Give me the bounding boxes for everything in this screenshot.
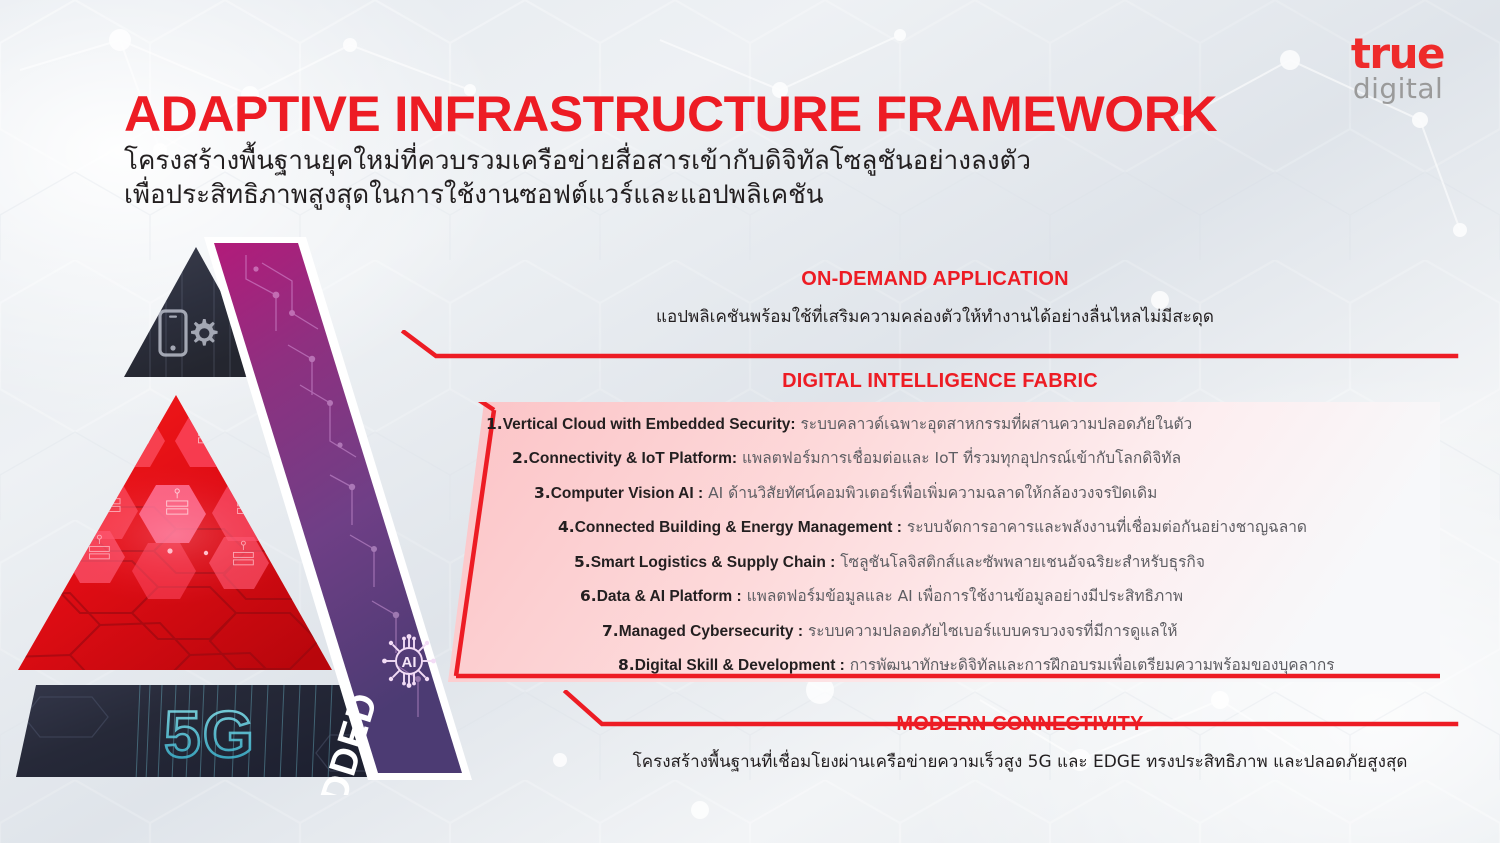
item-description: แพลตฟอร์มข้อมูลและ AI เพื่อการใช้งานข้อม… [747,587,1184,605]
item-description: ระบบคลาวด์เฉพาะอุตสาหกรรมที่ผสานความปลอด… [800,415,1192,433]
svg-text:AI: AI [402,654,417,671]
list-item: 6.Data & AI Platform : แพลตฟอร์มข้อมูลแล… [440,588,1440,605]
item-title: Connected Building & Energy Management : [575,519,902,536]
item-number: 7. [602,622,619,640]
page-title: ADAPTIVE INFRASTRUCTURE FRAMEWORK [124,85,1217,143]
item-number: 5. [574,553,591,571]
page-subtitle: โครงสร้างพื้นฐานยุคใหม่ที่ควบรวมเครือข่า… [124,144,1031,212]
list-item: 1.Vertical Cloud with Embedded Security:… [440,416,1440,433]
divider-on-demand [400,330,1460,370]
item-description: ระบบความปลอดภัยไซเบอร์แบบครบวงจรที่มีการ… [808,622,1178,640]
item-description: การพัฒนาทักษะดิจิทัลและการฝึกอบรมเพื่อเต… [850,656,1335,674]
item-number: 8. [618,656,635,674]
list-item: 4.Connected Building & Energy Management… [440,519,1440,536]
fabric-panel: 1.Vertical Cloud with Embedded Security:… [440,402,1440,682]
item-number: 2. [512,449,529,467]
on-demand-title: ON-DEMAND APPLICATION [430,268,1440,291]
section-digital-intelligence-fabric: DIGITAL INTELLIGENCE FABRIC 1.Vertical C… [440,370,1440,403]
modern-connectivity-description: โครงสร้างพื้นฐานที่เชื่อมโยงผ่านเครือข่า… [600,748,1440,775]
item-description: แพลตฟอร์มการเชื่อมต่อและ IoT ที่รวมทุกอุ… [742,449,1181,467]
item-title: Smart Logistics & Supply Chain : [591,554,836,571]
header: ADAPTIVE INFRASTRUCTURE FRAMEWORK โครงสร… [0,0,1500,240]
item-title: Connectivity & IoT Platform: [529,450,737,467]
list-item: 5.Smart Logistics & Supply Chain : โซลูช… [440,554,1440,571]
fabric-item-list: 1.Vertical Cloud with Embedded Security:… [440,402,1440,682]
list-item: 8.Digital Skill & Development : การพัฒนา… [440,657,1440,674]
item-number: 1. [486,415,503,433]
item-description: โซลูชันโลจิสติกส์และซัพพลายเชนอัจฉริยะสำ… [840,553,1205,571]
brand-logo: true digital [1351,34,1444,104]
item-title: Vertical Cloud with Embedded Security: [503,416,796,433]
list-item: 3.Computer Vision AI : AI ด้านวิสัยทัศน์… [440,485,1440,502]
item-number: 3. [534,484,551,502]
list-item: 7.Managed Cybersecurity : ระบบความปลอดภั… [440,623,1440,640]
section-on-demand-application: ON-DEMAND APPLICATION แอปพลิเคชันพร้อมใช… [430,268,1440,330]
list-item: 2.Connectivity & IoT Platform: แพลตฟอร์ม… [440,450,1440,467]
item-title: Data & AI Platform : [597,588,742,605]
divider-modern-connectivity [560,690,1460,730]
item-title: Computer Vision AI : [551,485,703,502]
item-description: ระบบจัดการอาคารและพลังงานที่เชื่อมต่อกัน… [907,518,1307,536]
item-number: 6. [580,587,597,605]
item-title: Managed Cybersecurity : [619,623,803,640]
item-number: 4. [558,518,575,536]
on-demand-description: แอปพลิเคชันพร้อมใช้ที่เสริมความคล่องตัวใ… [430,303,1440,330]
ai-chip-icon: AI [382,634,436,688]
item-description: AI ด้านวิสัยทัศน์คอมพิวเตอร์เพื่อเพิ่มคว… [708,484,1157,502]
base-tier-label-5g: 5G [164,697,256,771]
logo-digital-text: digital [1353,74,1444,104]
fabric-title: DIGITAL INTELLIGENCE FABRIC [440,370,1440,393]
logo-true-text: true [1351,34,1444,74]
item-title: Digital Skill & Development : [635,657,845,674]
